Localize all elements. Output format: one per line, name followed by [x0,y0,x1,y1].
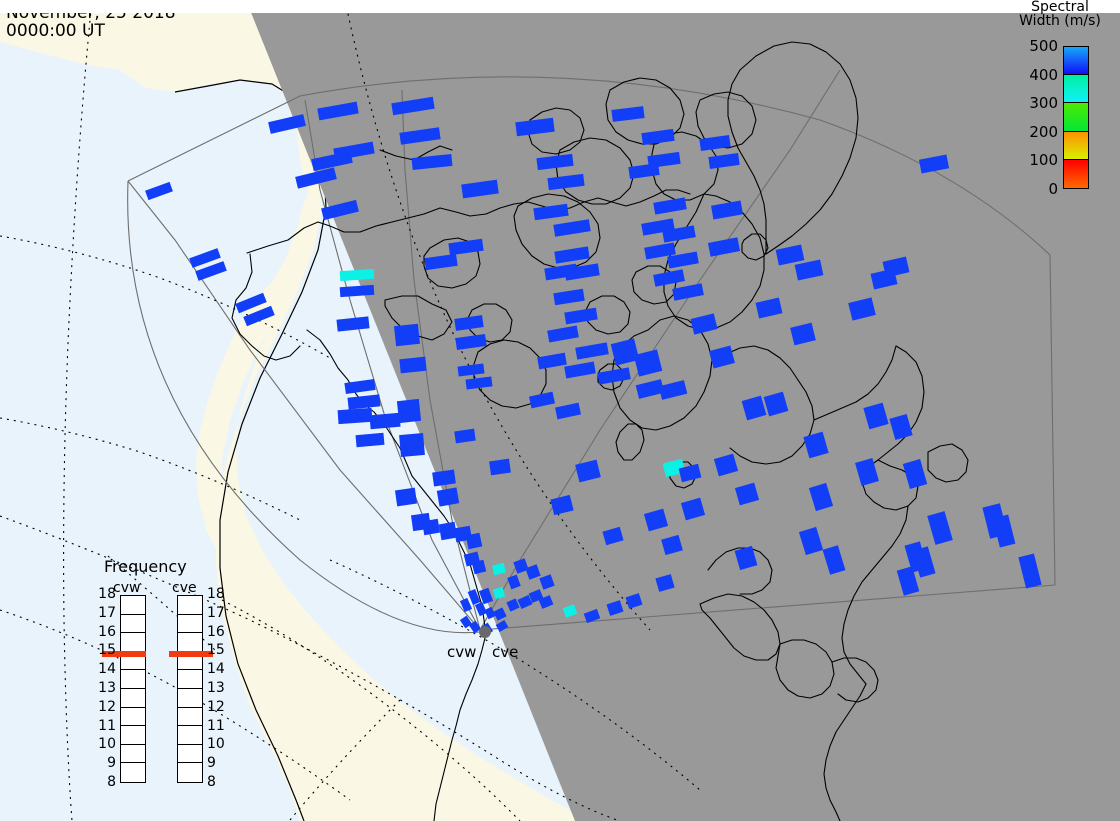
frequency-tick-cvw-11: 11 [92,718,116,734]
colorbar-segment-100-200 [1064,75,1088,103]
colorbar-tick-100: 100 [1000,151,1058,169]
frequency-segment-cvw-8 [121,763,145,782]
frequency-header-cvw: cvw [113,580,140,596]
colorbar-segment-400-500 [1064,160,1088,188]
spectral-width-cell [437,487,459,506]
colorbar-tick-300: 300 [1000,94,1058,112]
time-label: 0000:00 UT [6,21,105,41]
frequency-tick-cve-9: 9 [207,755,231,771]
frequency-segment-cve-17 [178,596,202,615]
colorbar[interactable] [1063,46,1089,189]
spectral-width-cell [399,357,426,374]
frequency-legend-title: Frequency [104,557,187,576]
frequency-segment-cvw-10 [121,726,145,745]
colorbar-segment-0-100 [1064,47,1088,75]
spectral-width-cell [466,533,483,550]
frequency-tick-cve-11: 11 [207,718,231,734]
frequency-tick-cvw-15: 15 [92,642,116,658]
frequency-tick-cvw-8: 8 [92,774,116,790]
radar-map-canvas: November, 25 2018 0000:00 UT Spectral Wi… [0,0,1120,821]
station-marker-cvw-cve[interactable] [479,626,491,638]
frequency-tick-cvw-16: 16 [92,624,116,640]
colorbar-tick-0: 0 [1000,180,1058,198]
frequency-segment-cvw-16 [121,615,145,634]
frequency-tick-cve-17: 17 [207,605,231,621]
frequency-segment-cve-9 [178,745,202,764]
frequency-tick-cvw-9: 9 [92,755,116,771]
frequency-segment-cve-15 [178,633,202,652]
frequency-tick-cve-8: 8 [207,774,231,790]
frequency-tick-cve-18: 18 [207,586,231,602]
frequency-tick-cvw-18: 18 [92,586,116,602]
frequency-segment-cve-13 [178,670,202,689]
frequency-tick-cve-14: 14 [207,661,231,677]
frequency-tick-cvw-13: 13 [92,680,116,696]
colorbar-tick-500: 500 [1000,37,1058,55]
spectral-width-cell [395,488,417,507]
frequency-segment-cvw-17 [121,596,145,615]
frequency-header-cve: cve [172,580,197,596]
spectral-width-cell [356,433,385,447]
colorbar-tick-400: 400 [1000,66,1058,84]
spectral-width-cell [397,399,421,423]
station-label-cvw: cvw [447,643,476,661]
frequency-segment-cve-16 [178,615,202,634]
frequency-segment-cve-12 [178,689,202,708]
frequency-tick-cve-13: 13 [207,680,231,696]
frequency-segment-cve-10 [178,726,202,745]
spectral-width-cell [422,519,440,536]
spectral-width-cell [369,413,400,430]
frequency-bar-cve[interactable] [177,595,203,783]
frequency-segment-cvw-13 [121,670,145,689]
frequency-tick-cve-16: 16 [207,624,231,640]
frequency-segment-cve-11 [178,708,202,727]
colorbar-title-line2: Width (m/s) [1000,13,1120,29]
frequency-tick-cve-12: 12 [207,699,231,715]
frequency-tick-cve-10: 10 [207,736,231,752]
spectral-width-cell [394,324,420,346]
frequency-tick-cvw-14: 14 [92,661,116,677]
top-white-strip [0,0,1120,13]
frequency-tick-cvw-10: 10 [92,736,116,752]
frequency-segment-cvw-15 [121,633,145,652]
frequency-tick-cve-15: 15 [207,642,231,658]
colorbar-segment-200-300 [1064,103,1088,131]
frequency-segment-cvw-9 [121,745,145,764]
spectral-width-cell [338,408,373,424]
station-label-cve: cve [492,643,518,661]
frequency-tick-cvw-17: 17 [92,605,116,621]
frequency-segment-cvw-11 [121,708,145,727]
colorbar-tick-200: 200 [1000,123,1058,141]
spectral-width-cell [399,433,425,457]
frequency-bar-cvw[interactable] [120,595,146,783]
map-svg [0,0,1120,821]
frequency-tick-cvw-12: 12 [92,699,116,715]
frequency-segment-cvw-12 [121,689,145,708]
spectral-width-cell [489,459,511,476]
frequency-segment-cve-8 [178,763,202,782]
colorbar-segment-300-400 [1064,132,1088,160]
